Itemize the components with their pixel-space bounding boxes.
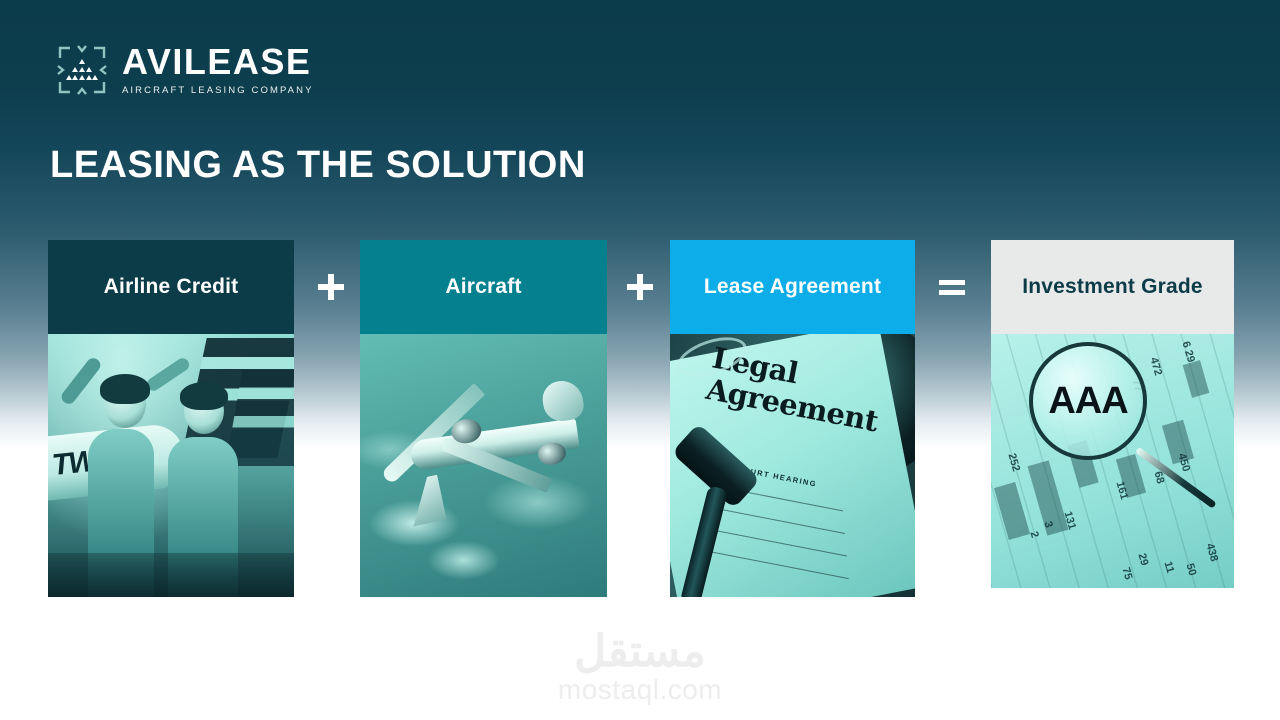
card-image-airline-credit: TWA bbox=[48, 334, 294, 597]
operator-plus-2 bbox=[610, 240, 670, 334]
avilease-geometric-star-icon bbox=[54, 42, 110, 98]
legal-agreement-gavel-photo: Legal Agreement COURT HEARING bbox=[670, 334, 915, 597]
card-image-lease-agreement: Legal Agreement COURT HEARING bbox=[670, 334, 915, 597]
mostaql-watermark: مستقل mostaql.com bbox=[0, 630, 1280, 704]
operator-plus-1 bbox=[301, 240, 361, 334]
watermark-arabic: مستقل bbox=[574, 630, 706, 674]
magnifier-icon: AAA bbox=[1029, 342, 1147, 460]
brand-lockup: AVILEASE AIRCRAFT LEASING COMPANY bbox=[122, 44, 314, 96]
card-header-investment-grade: Investment Grade bbox=[991, 240, 1234, 334]
card-image-aircraft bbox=[360, 334, 607, 597]
slide-canvas: AVILEASE AIRCRAFT LEASING COMPANY LEASIN… bbox=[0, 0, 1280, 720]
equation-card-aircraft[interactable]: Aircraft bbox=[360, 240, 607, 597]
brand-name: AVILEASE bbox=[122, 44, 314, 80]
aaa-rating-magnifier-photo: 6 29 472 77 450 68 161 131 3 2 29 11 50 … bbox=[991, 334, 1234, 588]
plus-icon bbox=[318, 274, 344, 300]
card-header-airline-credit: Airline Credit bbox=[48, 240, 294, 334]
card-label: Airline Credit bbox=[104, 275, 239, 299]
page-title: LEASING AS THE SOLUTION bbox=[50, 145, 586, 187]
watermark-latin: mostaql.com bbox=[558, 676, 722, 704]
card-header-lease-agreement: Lease Agreement bbox=[670, 240, 915, 334]
card-label: Aircraft bbox=[445, 275, 521, 299]
card-label: Investment Grade bbox=[1022, 275, 1203, 299]
operator-equals bbox=[922, 240, 982, 334]
equation-row: Airline Credit TWA bbox=[0, 240, 1280, 600]
plus-icon bbox=[627, 274, 653, 300]
card-label: Lease Agreement bbox=[704, 275, 881, 299]
aaa-rating-text: AAA bbox=[1033, 346, 1143, 456]
equals-icon bbox=[939, 274, 965, 300]
brand-tagline: AIRCRAFT LEASING COMPANY bbox=[122, 85, 314, 96]
equation-card-lease-agreement[interactable]: Lease Agreement Legal Agreement COURT HE… bbox=[670, 240, 915, 597]
equation-card-airline-credit[interactable]: Airline Credit TWA bbox=[48, 240, 294, 597]
card-header-aircraft: Aircraft bbox=[360, 240, 607, 334]
brand-logo: AVILEASE AIRCRAFT LEASING COMPANY bbox=[54, 42, 314, 98]
airliner-in-clouds-photo bbox=[360, 334, 607, 597]
equation-card-investment-grade[interactable]: Investment Grade 6 29 472 77 450 68 161 … bbox=[991, 240, 1234, 588]
stewardesses-twa-photo: TWA bbox=[48, 334, 294, 597]
card-image-investment-grade: 6 29 472 77 450 68 161 131 3 2 29 11 50 … bbox=[991, 334, 1234, 588]
